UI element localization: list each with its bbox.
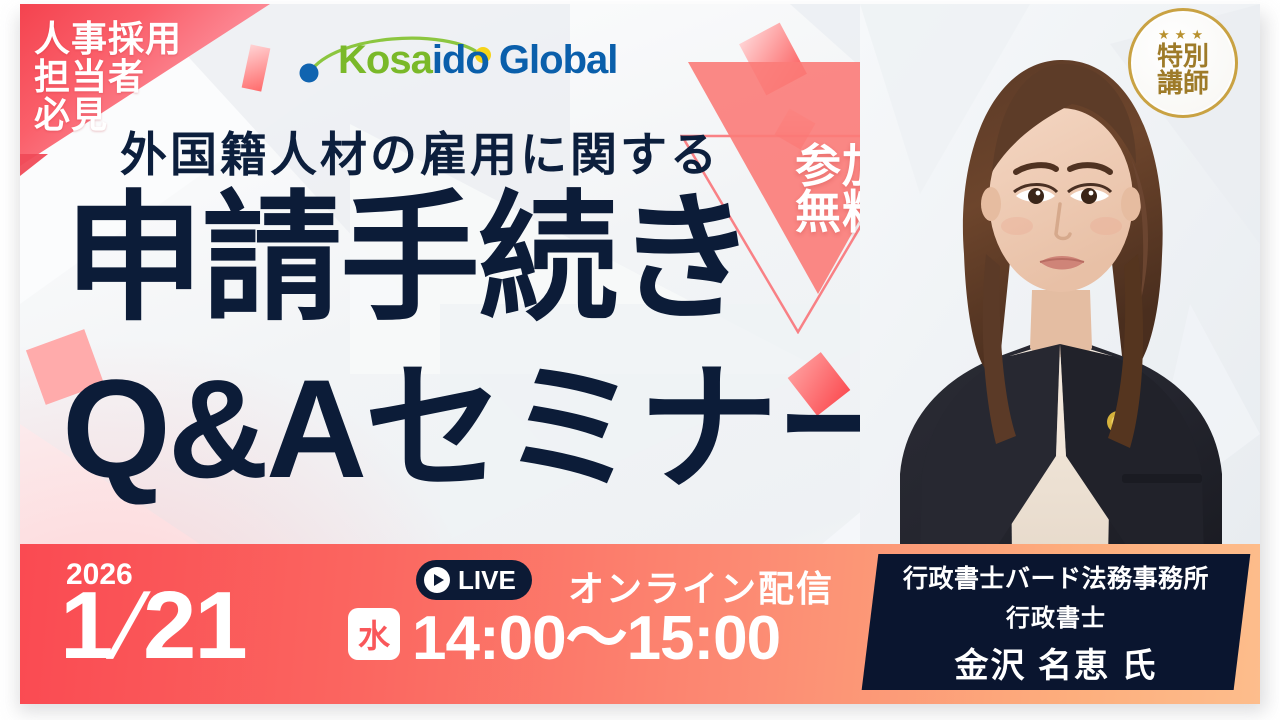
badge-line-2: 講師 <box>1157 71 1209 98</box>
date-day: 21 <box>143 572 246 679</box>
live-label: LIVE <box>458 565 516 596</box>
ribbon-fold <box>20 154 48 176</box>
logo-wordmark: Kosaido Global <box>338 38 617 83</box>
ribbon-line-1: 人事採用 <box>34 20 182 58</box>
badge-stars-icon: ★★★ <box>1158 28 1208 41</box>
seminar-banner: 参加 無料 人事採用 担当者 必見 Kosaido Global 外国籍人材の雇… <box>0 0 1280 720</box>
play-icon <box>424 567 450 593</box>
logo-text-global: Global <box>489 38 618 82</box>
speaker-role: 行政書士 <box>1006 598 1106 633</box>
speaker-info-panel: 行政書士バード法務事務所 行政書士 金沢 名恵 氏 <box>862 554 1251 690</box>
day-of-week-badge: 水 <box>348 608 400 660</box>
subtitle: 外国籍人材の雇用に関する <box>120 116 720 185</box>
kosaido-global-logo[interactable]: Kosaido Global <box>296 32 626 88</box>
logo-text-ido: ido <box>432 38 489 82</box>
event-date: 2026 1/21 水 <box>48 550 378 700</box>
broadcast-info: LIVE オンライン配信 14:00〜15:00 <box>408 552 888 698</box>
special-lecturer-badge: ★★★ 特別 講師 <box>1128 8 1238 118</box>
badge-line-1: 特別 <box>1157 44 1209 71</box>
speaker-office: 行政書士バード法務事務所 <box>903 559 1209 595</box>
title-line-1: 申請手続き <box>64 189 754 329</box>
logo-text-kosa: Kosa <box>338 38 432 82</box>
ribbon-line-2: 担当者 <box>34 58 182 96</box>
live-badge: LIVE <box>416 560 532 600</box>
badge-text: 特別 講師 <box>1157 44 1209 98</box>
banner-canvas: 参加 無料 人事採用 担当者 必見 Kosaido Global 外国籍人材の雇… <box>20 4 1260 704</box>
speaker-name: 金沢 名恵 氏 <box>955 638 1158 687</box>
date-month-day: 1/21 <box>60 578 246 674</box>
footer-bar: 2026 1/21 水 LIVE オンライン配信 14:00〜15:00 行政書… <box>20 544 1260 704</box>
event-time: 14:00〜15:00 <box>412 608 780 670</box>
title-line-2: Q&Aセミナー <box>62 359 912 499</box>
